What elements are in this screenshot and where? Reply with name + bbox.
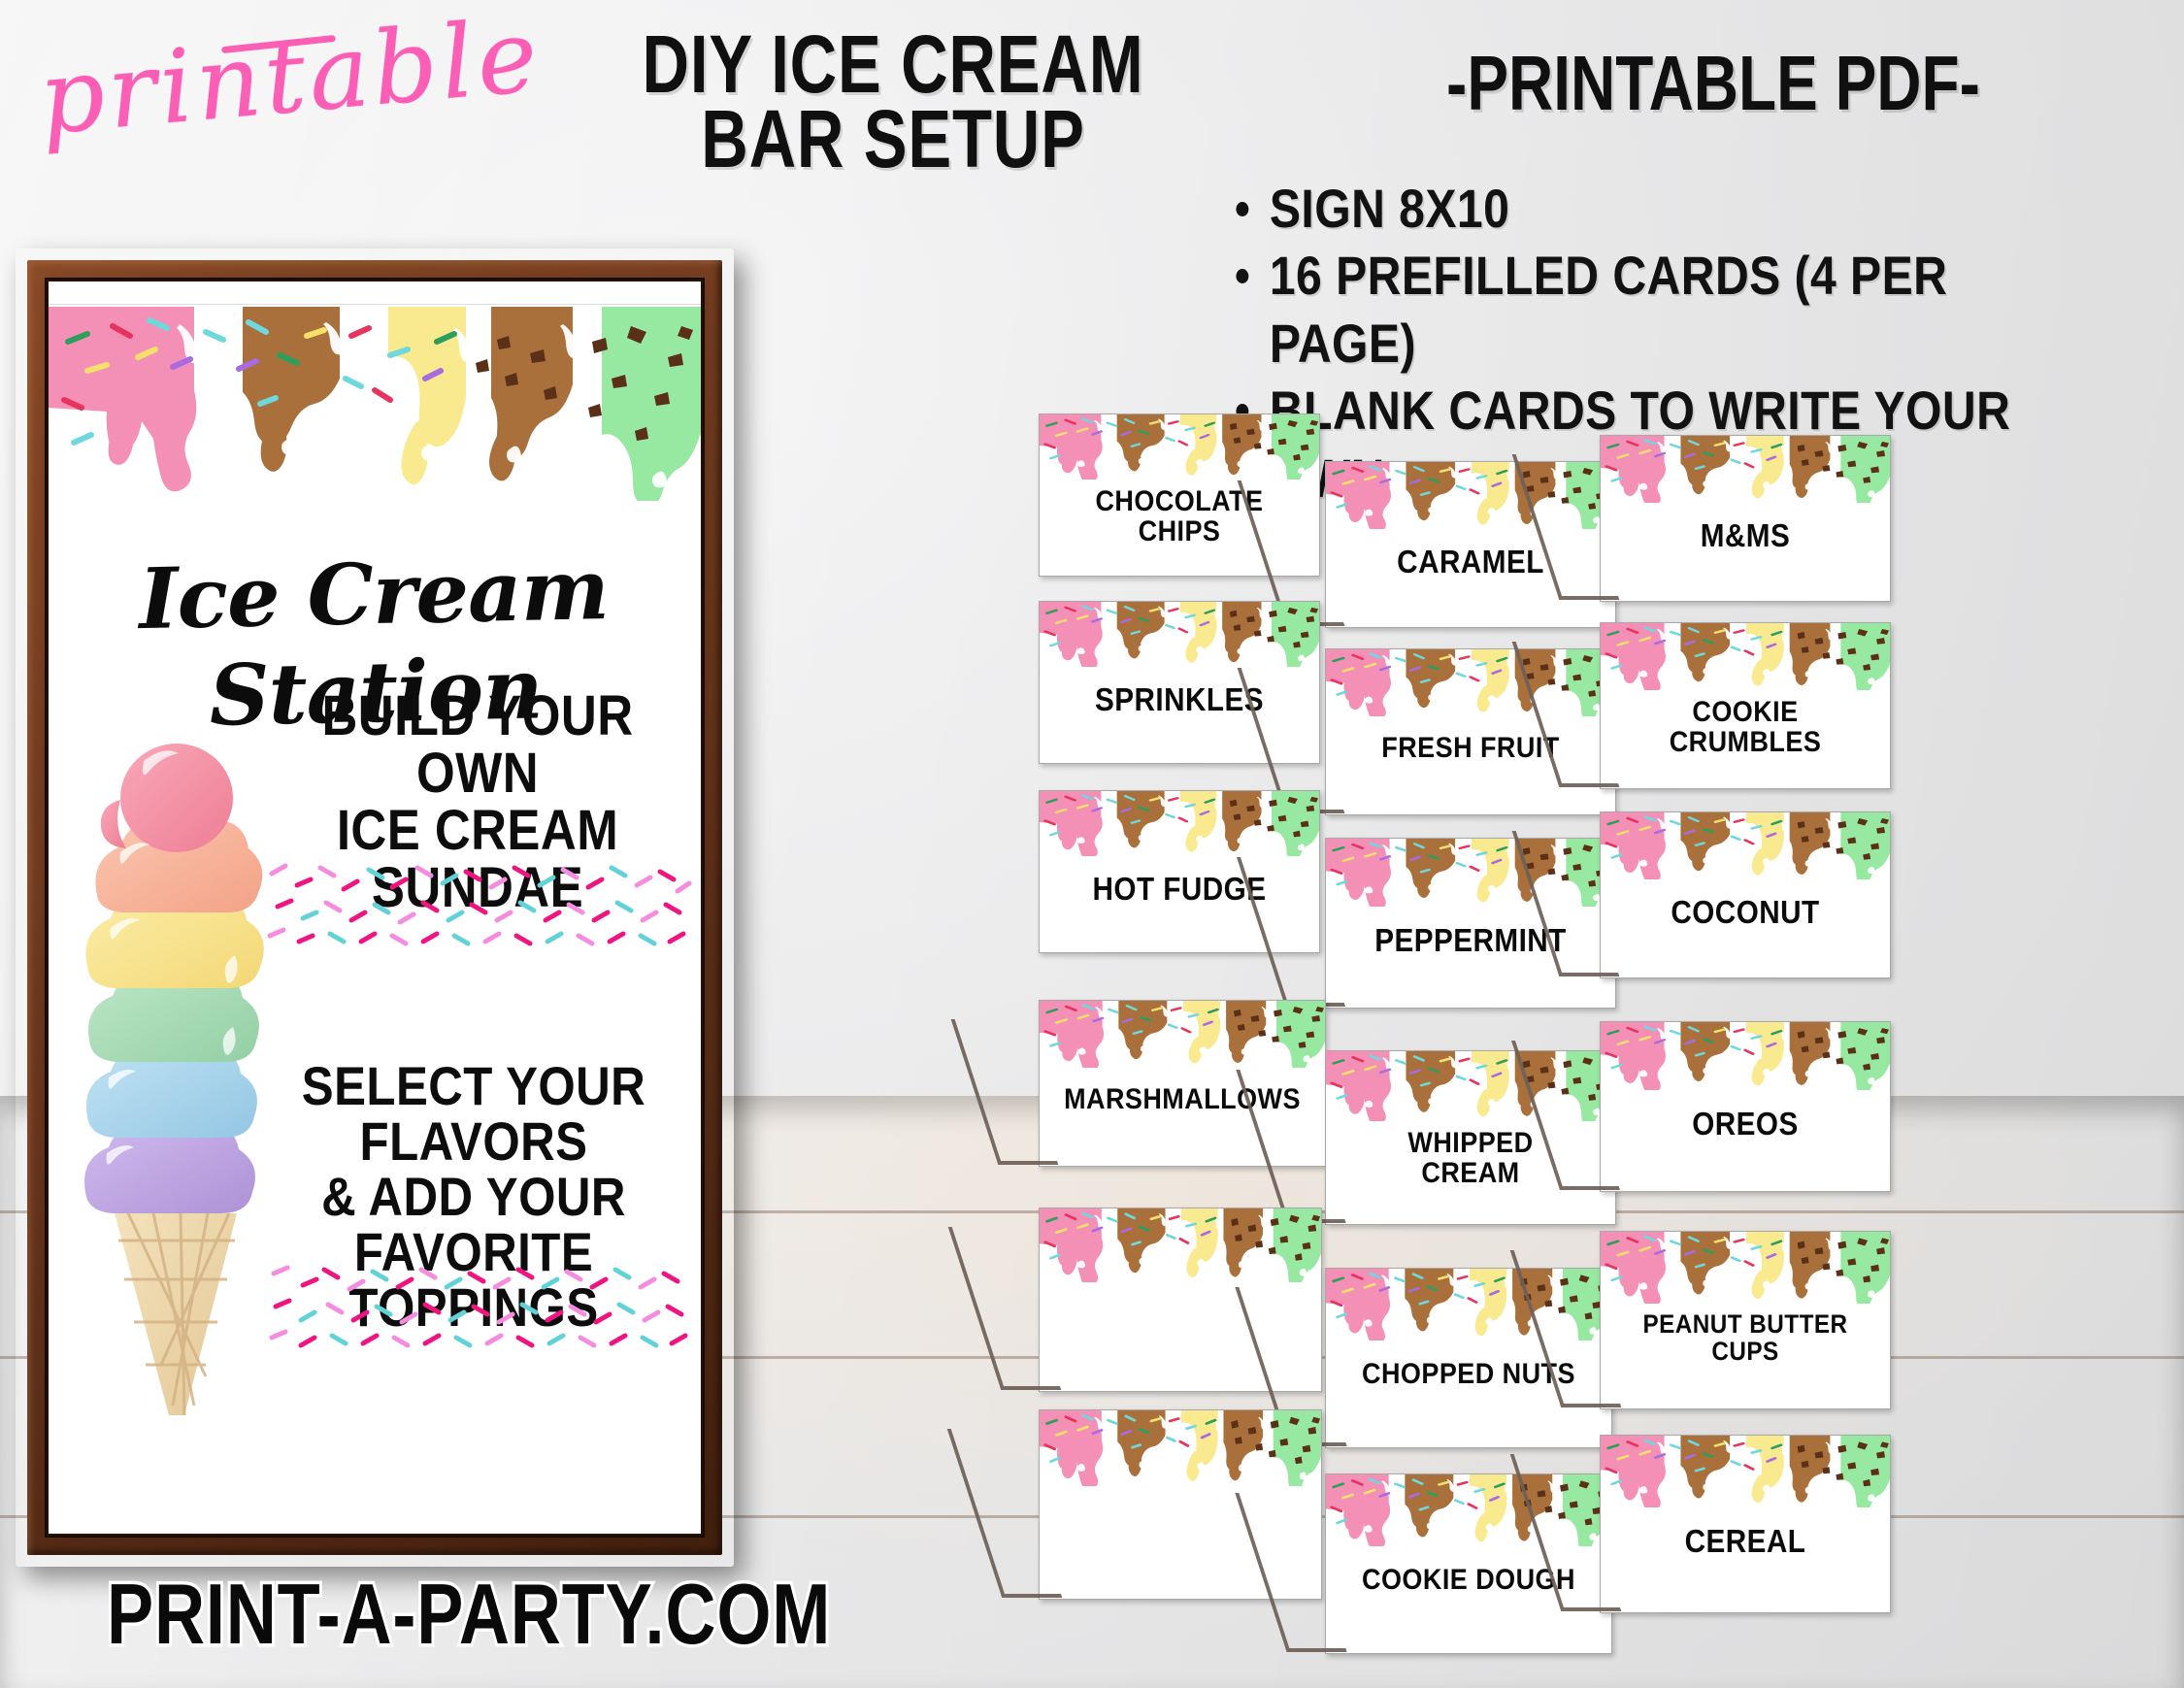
topping-place-card[interactable]: PEANUT BUTTERCUPS — [1600, 1231, 1891, 1409]
sign-line-3: SELECT YOUR FLAVORS — [281, 1058, 667, 1169]
picture-frame: Ice Cream Station — [16, 248, 734, 1567]
place-card-label: OREOS — [1620, 1108, 1870, 1141]
drip-border-card — [1601, 1232, 1890, 1304]
ice-cream-cone-illustration — [64, 736, 268, 1415]
drip-border-card — [1601, 436, 1890, 503]
drip-border-card — [1601, 1436, 1890, 1507]
drip-border-card — [1601, 812, 1890, 879]
product-listing-stage: printable DIY ICE CREAM BAR SETUP -PRINT… — [0, 0, 2184, 1688]
printable-pdf-label: -PRINTABLE PDF- — [1446, 39, 1980, 128]
drip-border-card — [1040, 791, 1319, 856]
place-card-label: CEREAL — [1620, 1525, 1870, 1558]
drip-border-card — [1601, 623, 1890, 690]
drip-border-card — [1040, 414, 1319, 480]
feature-item: SIGN 8X10 — [1233, 175, 2051, 242]
feature-item: 16 PREFILLED CARDS (4 PER PAGE) — [1233, 242, 2051, 377]
sign-line-1: BUILD YOUR OWN — [289, 687, 665, 802]
place-card-label: PEANUT BUTTERCUPS — [1620, 1310, 1870, 1365]
drip-border-card — [1040, 1410, 1321, 1486]
place-card-label: COCONUT — [1620, 896, 1870, 929]
sprinkle-divider-top — [264, 860, 693, 949]
ice-cream-station-sign: Ice Cream Station — [49, 281, 701, 1534]
drip-border-card — [1040, 602, 1319, 667]
page-title: DIY ICE CREAM BAR SETUP — [613, 27, 1173, 178]
sprinkle-divider-bottom — [264, 1262, 693, 1351]
poster-top-margin — [49, 281, 701, 305]
site-watermark: PRINT-A-PARTY.COM — [107, 1565, 831, 1664]
drip-border-poster — [49, 307, 701, 501]
place-card-label: M&MS — [1620, 519, 1870, 552]
topping-place-card[interactable]: COCONUT — [1600, 811, 1891, 978]
place-card-label: COOKIECRUMBLES — [1620, 697, 1870, 757]
topping-place-card[interactable]: OREOS — [1600, 1021, 1891, 1192]
topping-place-card[interactable]: M&MS — [1600, 435, 1891, 602]
topping-place-card[interactable]: CEREAL — [1600, 1435, 1891, 1613]
drip-border-card — [1040, 1001, 1325, 1068]
place-card-grid: CHOCOLATECHIPS — [1039, 417, 2184, 1679]
drip-border-card — [1601, 1022, 1890, 1090]
topping-place-card[interactable]: COOKIECRUMBLES — [1600, 622, 1891, 789]
drip-border-card — [1040, 1208, 1321, 1282]
